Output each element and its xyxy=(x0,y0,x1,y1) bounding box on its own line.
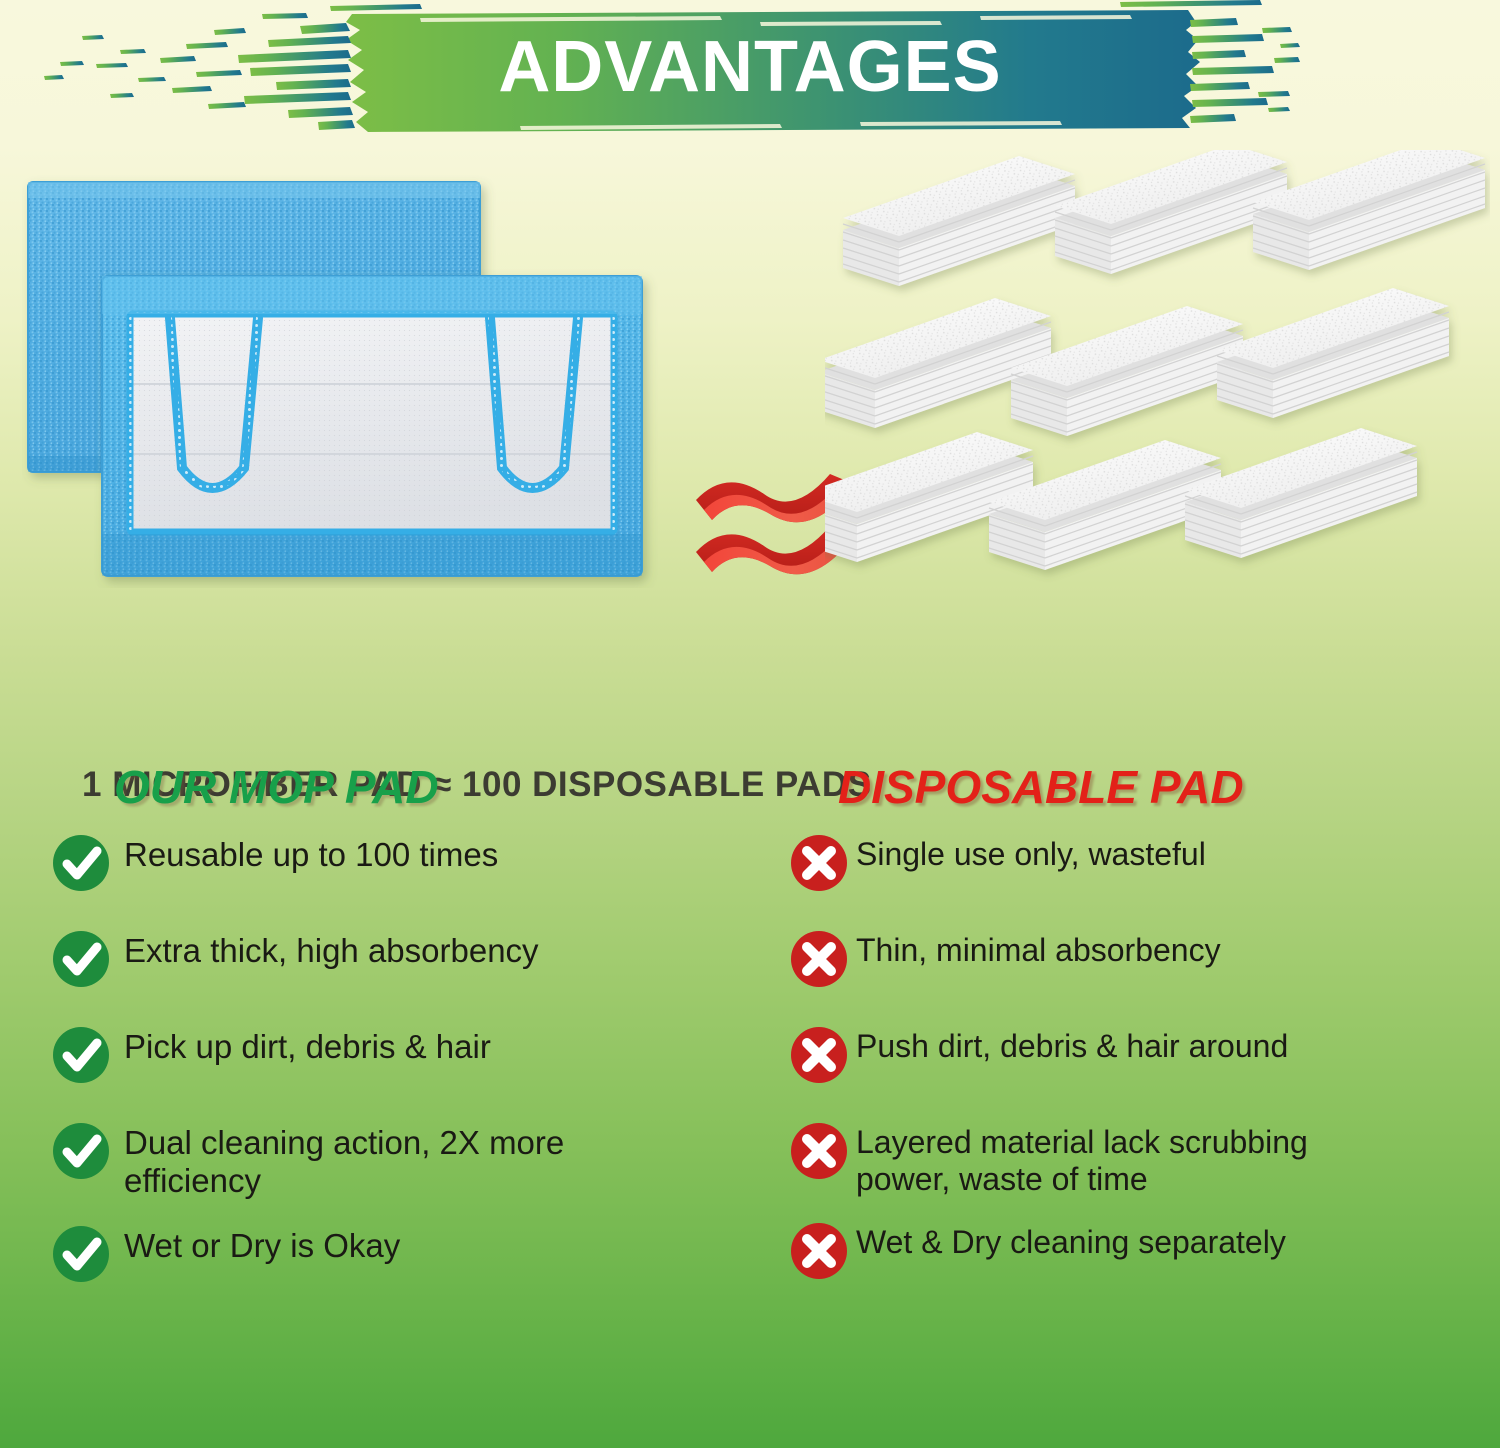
list-item-label: Push dirt, debris & hair around xyxy=(856,1024,1288,1065)
disposable-pads-stacks-image xyxy=(825,150,1490,605)
our-mop-pad-list: Reusable up to 100 times Extra thick, hi… xyxy=(52,832,752,1297)
list-item-label: Wet & Dry cleaning separately xyxy=(856,1220,1286,1261)
check-icon xyxy=(52,1225,110,1283)
our-mop-pad-column: OUR MOP PAD Reusable up to 100 times Ext… xyxy=(52,760,752,1319)
list-item-label: Thin, minimal absorbency xyxy=(856,928,1221,969)
comparison-section: OUR MOP PAD Reusable up to 100 times Ext… xyxy=(0,760,1500,1448)
page-title: ADVANTAGES xyxy=(0,0,1500,140)
cross-icon xyxy=(790,1026,848,1084)
check-icon xyxy=(52,1122,110,1180)
check-icon xyxy=(52,1026,110,1084)
check-icon xyxy=(52,834,110,892)
microfiber-mop-pad-image xyxy=(22,168,682,588)
list-item: Wet & Dry cleaning separately xyxy=(790,1220,1490,1294)
list-item: Push dirt, debris & hair around xyxy=(790,1024,1490,1098)
list-item: Thin, minimal absorbency xyxy=(790,928,1490,1002)
list-item-label: Reusable up to 100 times xyxy=(124,832,498,874)
list-item-label: Dual cleaning action, 2X more efficiency xyxy=(124,1120,564,1201)
product-comparison-row: 1 MICROFIBER PAD ≈ 100 DISPOSABLE PADS xyxy=(0,140,1500,610)
list-item-label: Pick up dirt, debris & hair xyxy=(124,1024,491,1066)
header-banner: ADVANTAGES xyxy=(0,0,1500,140)
disposable-pad-column: DISPOSABLE PAD Single use only, wasteful… xyxy=(790,760,1490,1316)
cross-icon xyxy=(790,1222,848,1280)
list-item-label: Wet or Dry is Okay xyxy=(124,1223,400,1265)
our-mop-pad-heading: OUR MOP PAD xyxy=(114,760,752,814)
list-item-label: Single use only, wasteful xyxy=(856,832,1206,873)
list-item: Reusable up to 100 times xyxy=(52,832,752,906)
list-item: Dual cleaning action, 2X more efficiency xyxy=(52,1120,752,1201)
check-icon xyxy=(52,930,110,988)
list-item: Extra thick, high absorbency xyxy=(52,928,752,1002)
list-item: Layered material lack scrubbing power, w… xyxy=(790,1120,1490,1198)
list-item: Single use only, wasteful xyxy=(790,832,1490,906)
cross-icon xyxy=(790,1122,848,1180)
list-item-label: Extra thick, high absorbency xyxy=(124,928,539,970)
disposable-pad-heading: DISPOSABLE PAD xyxy=(838,760,1490,814)
cross-icon xyxy=(790,834,848,892)
list-item: Wet or Dry is Okay xyxy=(52,1223,752,1297)
mop-pad-front xyxy=(102,276,642,576)
list-item: Pick up dirt, debris & hair xyxy=(52,1024,752,1098)
cross-icon xyxy=(790,930,848,988)
disposable-pad-list: Single use only, wasteful Thin, minimal … xyxy=(790,832,1490,1294)
list-item-label: Layered material lack scrubbing power, w… xyxy=(856,1120,1308,1198)
